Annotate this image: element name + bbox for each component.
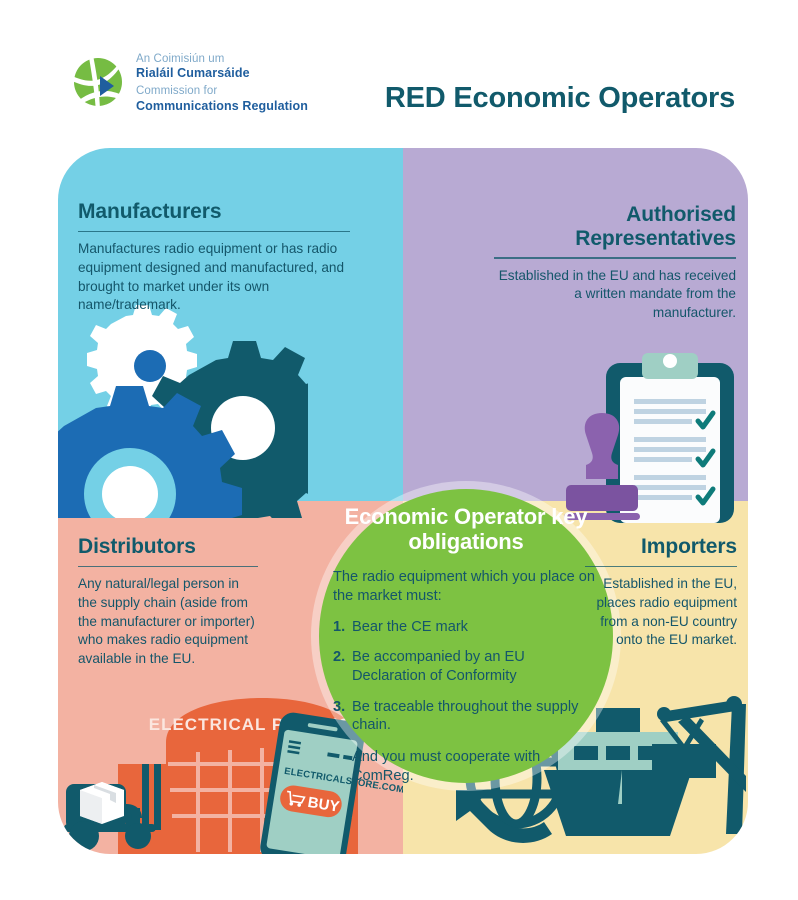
- center-lead: The radio equipment which you place on t…: [333, 568, 599, 605]
- importers-heading: Importers: [585, 535, 737, 559]
- comreg-logo-icon: [70, 48, 126, 116]
- distributors-divider: [78, 566, 258, 568]
- center-footer: And you must cooperate with ComReg.: [352, 748, 599, 785]
- distributors-body: Any natural/legal person in the supply c…: [78, 575, 258, 669]
- comreg-logo-text: An Coimisiún um Rialáil Cumarsáide Commi…: [136, 51, 308, 114]
- obligation-item-3: 3. Be traceable throughout the supply ch…: [333, 698, 599, 735]
- obligation-item-1: 1. Bear the CE mark: [333, 618, 599, 637]
- logo-line-4: Communications Regulation: [136, 99, 308, 114]
- authorised-representatives-divider: [494, 257, 736, 259]
- manufacturers-divider: [78, 231, 350, 233]
- authorised-representatives-body: Established in the EU and has received a…: [494, 267, 736, 323]
- importers-text-block: Importers Established in the EU, places …: [585, 535, 737, 650]
- infographic-page: An Coimisiún um Rialáil Cumarsáide Commi…: [0, 0, 798, 900]
- center-title: Economic Operator key obligations: [333, 505, 599, 554]
- distributors-heading: Distributors: [78, 535, 258, 559]
- importers-body: Established in the EU, places radio equi…: [585, 575, 737, 650]
- obligation-number: 3.: [333, 698, 352, 735]
- authorised-representatives-text-block: Authorised Representatives Established i…: [494, 203, 736, 323]
- manufacturers-body: Manufactures radio equipment or has radi…: [78, 240, 350, 315]
- logo-line-3: Commission for: [136, 85, 308, 99]
- comreg-logo: An Coimisiún um Rialáil Cumarsáide Commi…: [70, 48, 308, 116]
- distributors-text-block: Distributors Any natural/legal person in…: [78, 535, 258, 669]
- obligation-text: Bear the CE mark: [352, 618, 599, 637]
- manufacturers-heading: Manufacturers: [78, 200, 350, 224]
- obligation-number: 1.: [333, 618, 352, 637]
- gears-icon: [58, 298, 308, 518]
- page-title: RED Economic Operators: [360, 82, 760, 115]
- logo-line-2: Rialáil Cumarsáide: [136, 66, 308, 81]
- importers-divider: [585, 566, 737, 568]
- obligation-number: 2.: [333, 648, 352, 685]
- header: An Coimisiún um Rialáil Cumarsáide Commi…: [0, 0, 798, 140]
- obligation-text: Be traceable throughout the supply chain…: [352, 698, 599, 735]
- logo-line-1: An Coimisiún um: [136, 53, 308, 67]
- center-circle: Economic Operator key obligations The ra…: [319, 489, 613, 783]
- obligation-item-2: 2. Be accompanied by an EU Declaration o…: [333, 648, 599, 685]
- manufacturers-text-block: Manufacturers Manufactures radio equipme…: [78, 200, 350, 315]
- obligation-text: Be accompanied by an EU Declaration of C…: [352, 648, 599, 685]
- authorised-representatives-heading: Authorised Representatives: [494, 203, 736, 250]
